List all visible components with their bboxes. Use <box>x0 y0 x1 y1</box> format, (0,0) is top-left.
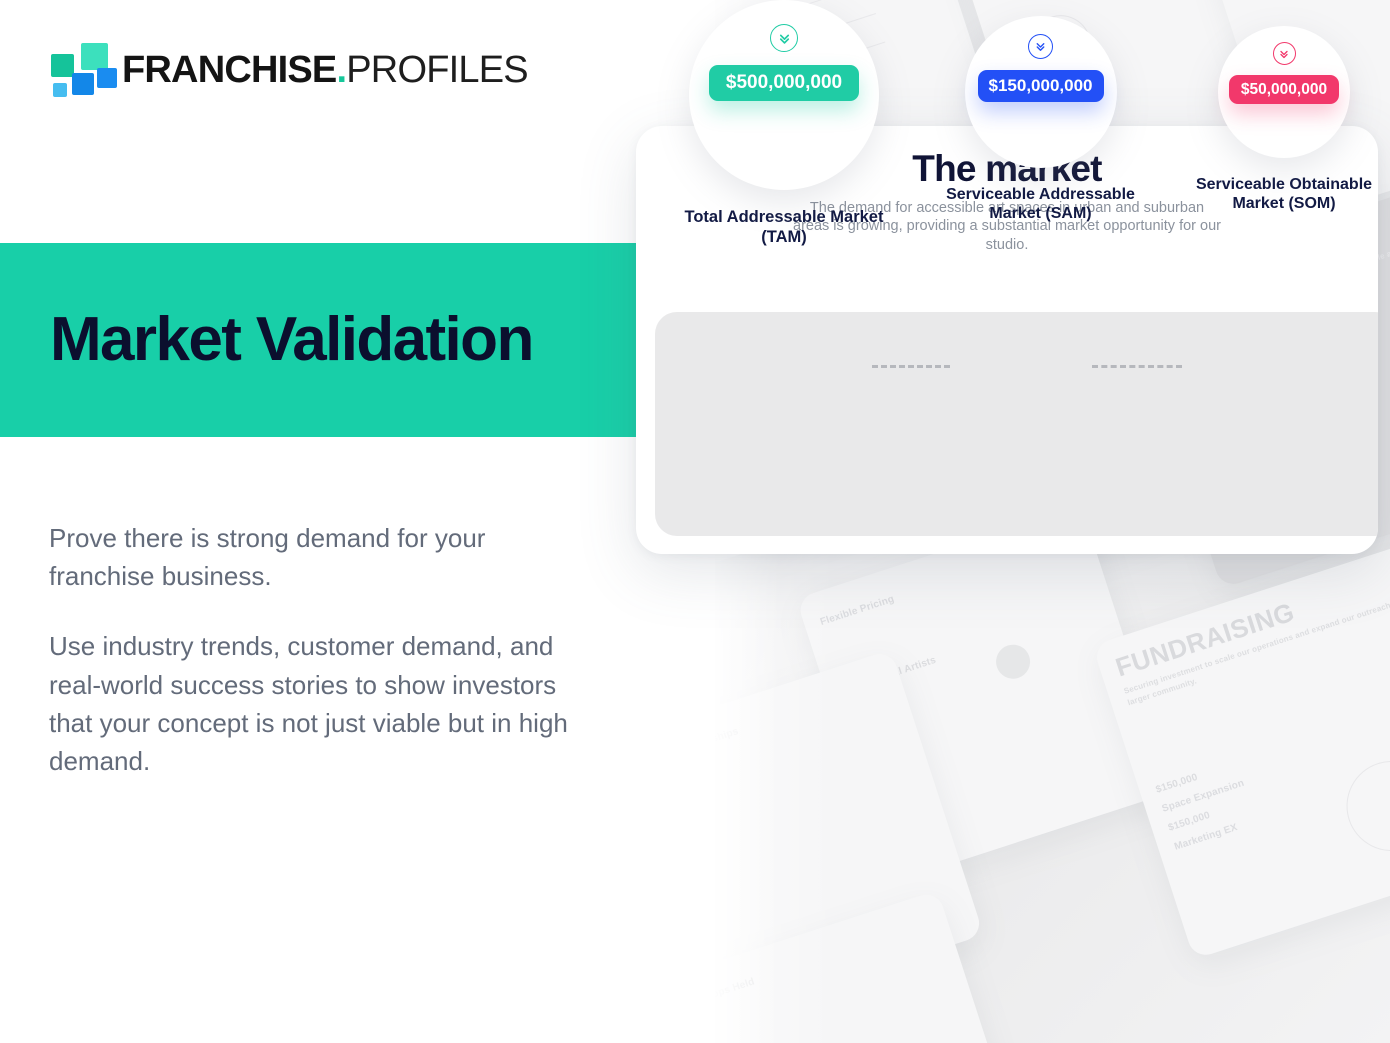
market-node-som-circle: $50,000,000 <box>1218 26 1350 158</box>
background-slide-mockup: Community Partnerships <box>715 649 984 1030</box>
market-node-tam-label: Total Addressable Market (TAM) <box>684 208 884 248</box>
market-node-tam-circle: $500,000,000 <box>689 0 879 190</box>
market-node-tam-value: $500,000,000 <box>709 65 859 101</box>
market-node-sam-circle: $150,000,000 <box>965 16 1117 168</box>
background-slide-mockup: Workshops Held <box>715 890 1018 1043</box>
market-node-som-value: $50,000,000 <box>1229 75 1339 104</box>
market-node-sam-label: Serviceable Addressable Market (SAM) <box>938 185 1143 223</box>
market-node-sam[interactable]: $150,000,000 Serviceable Addressable Mar… <box>938 16 1143 223</box>
market-node-tam[interactable]: $500,000,000 Total Addressable Market (T… <box>684 0 884 248</box>
logo-wordmark: FRANCHISE.PROFILES <box>122 51 528 89</box>
bg-text: $150,000 <box>1155 690 1390 796</box>
brand-logo[interactable]: FRANCHISE.PROFILES <box>48 42 528 98</box>
double-chevron-down-icon[interactable] <box>1273 42 1296 65</box>
headline-banner: Market Validation <box>0 243 636 437</box>
background-slide-mockup-fundraising: FUNDRAISING Securing investment to scale… <box>1092 541 1390 960</box>
market-node-som-label: Serviceable Obtainable Market (SOM) <box>1184 175 1384 213</box>
logo-word-bold: FRANCHISE <box>122 49 336 91</box>
page-title: Market Validation <box>50 309 533 371</box>
market-node-sam-value: $150,000,000 <box>978 70 1104 102</box>
double-chevron-down-icon[interactable] <box>1028 34 1053 59</box>
bg-text: Space Expansion <box>1161 709 1390 815</box>
connector-sam-som <box>1092 365 1182 368</box>
bg-text: Marketing EX <box>1173 747 1390 853</box>
logo-squares-icon <box>48 42 108 98</box>
body-copy: Prove there is strong demand for your fr… <box>49 519 594 780</box>
double-chevron-down-icon[interactable] <box>770 24 798 52</box>
body-paragraph-2: Use industry trends, customer demand, an… <box>49 627 594 780</box>
background-slide-mockup: Flexible Pricing Professional Artists <box>796 506 1174 884</box>
bg-subtitle: Securing investment to scale our operati… <box>1122 591 1390 709</box>
connector-tam-sam <box>872 365 950 368</box>
bg-text: Workshops Held <box>715 919 933 1012</box>
market-funnel-panel <box>655 312 1378 536</box>
body-paragraph-1: Prove there is strong demand for your fr… <box>49 519 594 595</box>
bg-title: FUNDRAISING <box>1112 561 1390 681</box>
slide-canvas: Drop-In Fees Session Workshops Commissio… <box>0 0 1390 1043</box>
logo-word-light: PROFILES <box>346 49 528 91</box>
bg-text: Professional Artists <box>841 602 1099 695</box>
market-node-som[interactable]: $50,000,000 Serviceable Obtainable Marke… <box>1184 26 1384 213</box>
logo-dot: . <box>336 49 346 91</box>
bg-text: $150,000 <box>1167 728 1390 834</box>
bg-text: Community Partnerships <box>715 678 887 774</box>
